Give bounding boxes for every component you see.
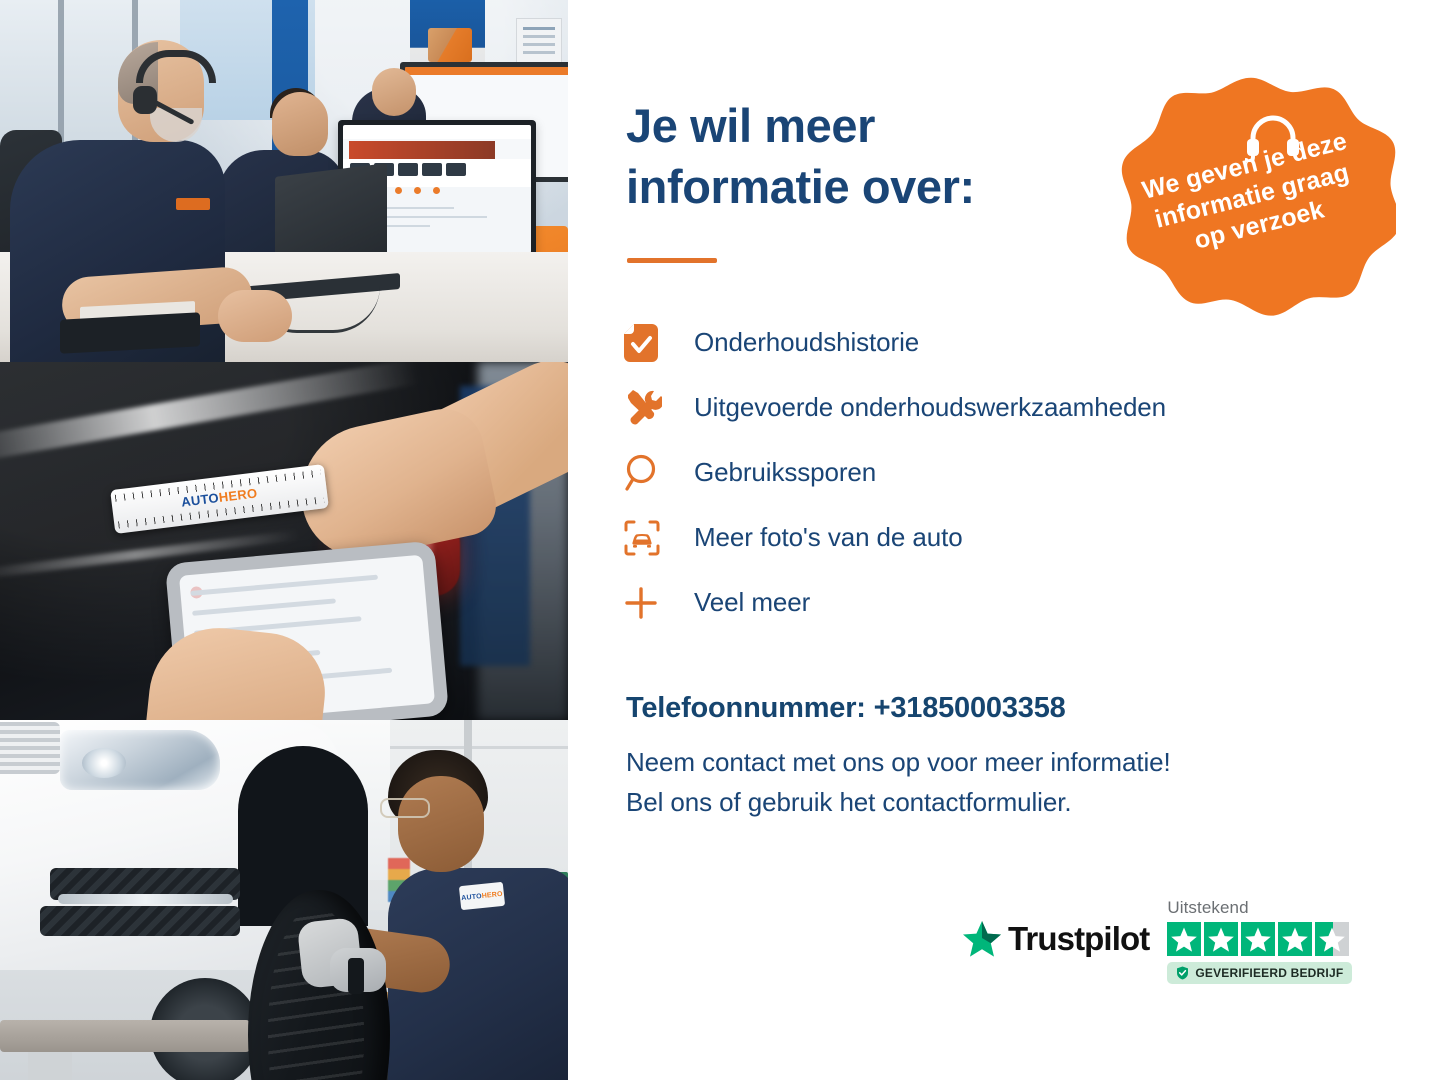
mechanic-head <box>398 776 484 872</box>
star-filled <box>1241 922 1275 956</box>
tools-wrench-screwdriver-icon <box>624 389 668 427</box>
feature-label: Veel meer <box>694 587 810 618</box>
plus-icon <box>624 586 668 620</box>
content-panel: Je wil meer informatie over: We geven je… <box>568 0 1440 1080</box>
star-filled <box>1167 922 1201 956</box>
headset-earcup <box>133 86 157 114</box>
feature-item-meer-fotos: Meer foto's van de auto <box>624 505 1384 570</box>
mechanic-glasses <box>380 798 430 818</box>
autohero-measuring-ruler: AUTOHERO <box>110 464 329 534</box>
agent-2-head <box>272 92 328 156</box>
mechanic-watch <box>348 958 364 994</box>
trustpilot-star-rating <box>1167 922 1349 956</box>
agent-1-hand <box>218 290 292 342</box>
title-divider <box>627 258 717 263</box>
trustpilot-star-icon <box>962 920 1002 958</box>
car-inspection-ruler-photo: AUTOHERO <box>0 362 568 720</box>
document-check-icon <box>624 324 668 362</box>
magnifier-icon <box>624 454 668 492</box>
feature-item-onderhoudshistorie: Onderhoudshistorie <box>624 310 1384 375</box>
feature-item-gebruikssporen: Gebruikssporen <box>624 440 1384 505</box>
contact-text: Neem contact met ons op voor meer inform… <box>626 742 1386 823</box>
car-headlight <box>60 730 220 790</box>
autohero-polo-logo: AUTOHERO <box>459 882 505 910</box>
car-grille <box>0 722 60 774</box>
agent-3-head <box>372 68 416 116</box>
photo-column: AUTOHERO <box>0 0 568 1080</box>
feature-label: Gebruikssporen <box>694 457 876 488</box>
autohero-polo-logo <box>176 198 210 210</box>
phone-number[interactable]: Telefoonnummer: +31850003358 <box>626 692 1066 725</box>
star-partial <box>1315 922 1349 956</box>
callcenter-agents-photo <box>0 0 568 362</box>
mechanic-tire-photo: AUTOHERO <box>0 720 568 1080</box>
banner-graphic <box>428 28 472 62</box>
chrome-trim <box>58 894 233 904</box>
trustpilot-widget[interactable]: Trustpilot Uitstekend <box>962 898 1352 984</box>
promo-banner: AUTOHERO <box>0 0 1440 1080</box>
bumper-vent <box>40 906 240 936</box>
page-title: Je wil meer informatie over: <box>626 95 1096 217</box>
feature-item-veel-meer: Veel meer <box>624 570 1384 635</box>
trustpilot-rating-block: Uitstekend <box>1167 898 1352 984</box>
shield-check-icon <box>1176 966 1189 980</box>
car-scan-icon <box>624 520 668 556</box>
feature-label: Uitgevoerde onderhoudswerkzaamheden <box>694 392 1166 423</box>
star-filled <box>1204 922 1238 956</box>
trustpilot-logo: Trustpilot <box>962 920 1149 958</box>
feature-label: Meer foto's van de auto <box>694 522 963 553</box>
feature-list: Onderhoudshistorie Uitgevoerde onderhoud… <box>624 310 1384 635</box>
car-lift-post <box>28 1052 72 1080</box>
car-lift-pad <box>0 1020 250 1052</box>
contact-line-1: Neem contact met ons op voor meer inform… <box>626 747 1171 777</box>
trustpilot-wordmark: Trustpilot <box>1008 920 1149 958</box>
page-title-line-2: informatie over: <box>626 160 975 213</box>
verified-business-badge: GEVERIFIEERD BEDRIJF <box>1167 962 1352 984</box>
trustpilot-rating-label: Uitstekend <box>1167 898 1248 918</box>
star-filled <box>1278 922 1312 956</box>
contact-line-2: Bel ons of gebruik het contactformulier. <box>626 787 1071 817</box>
page-title-line-1: Je wil meer <box>626 99 875 152</box>
feature-item-onderhoudswerkzaamheden: Uitgevoerde onderhoudswerkzaamheden <box>624 375 1384 440</box>
feature-label: Onderhoudshistorie <box>694 327 919 358</box>
verified-label: GEVERIFIEERD BEDRIJF <box>1195 966 1343 980</box>
